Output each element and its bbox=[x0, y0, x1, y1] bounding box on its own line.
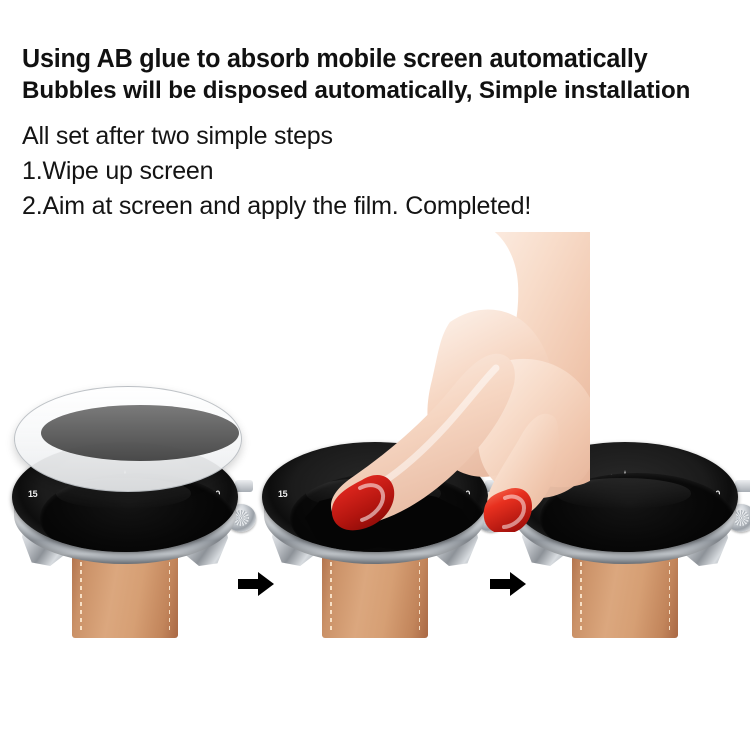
bezel-numeral-left: 15 bbox=[528, 489, 537, 499]
headline-secondary: Bubbles will be disposed automatically, … bbox=[22, 75, 737, 106]
face-gloss bbox=[556, 478, 692, 509]
watch-illustration-1: 15 14 10 11 bbox=[0, 418, 250, 648]
instruction-step-2: 2.Aim at screen and apply the film. Comp… bbox=[22, 189, 748, 224]
watch-step-3: 15 14 10 11 bbox=[500, 418, 750, 648]
screen-protector-film bbox=[14, 386, 242, 492]
instruction-list: All set after two simple steps 1.Wipe up… bbox=[22, 119, 748, 224]
headline-primary: Using AB glue to absorb mobile screen au… bbox=[22, 44, 737, 75]
watch-step-1: 15 14 10 11 bbox=[0, 418, 250, 648]
watch-illustration-3: 15 14 10 11 bbox=[500, 418, 750, 648]
bezel-numeral-left: 15 bbox=[28, 489, 37, 499]
bezel-numeral-left: 15 bbox=[278, 489, 287, 499]
watch-bezel: 15 14 10 11 bbox=[262, 442, 488, 552]
film-gap-shadow bbox=[41, 405, 239, 461]
product-infographic: Using AB glue to absorb mobile screen au… bbox=[0, 0, 750, 750]
arrow-step2-to-step3-icon bbox=[488, 570, 528, 598]
watch-step-2: 15 14 10 11 bbox=[250, 418, 500, 648]
instruction-step-1: 1.Wipe up screen bbox=[22, 154, 748, 189]
watch-illustration-2: 15 14 10 11 bbox=[250, 418, 500, 648]
watch-bezel: 15 14 10 11 bbox=[512, 442, 738, 552]
arrow-step1-to-step2-icon bbox=[236, 570, 276, 598]
text-block: Using AB glue to absorb mobile screen au… bbox=[22, 44, 748, 224]
watch-steps-row: 15 14 10 11 bbox=[0, 418, 750, 648]
instruction-intro: All set after two simple steps bbox=[22, 119, 748, 154]
